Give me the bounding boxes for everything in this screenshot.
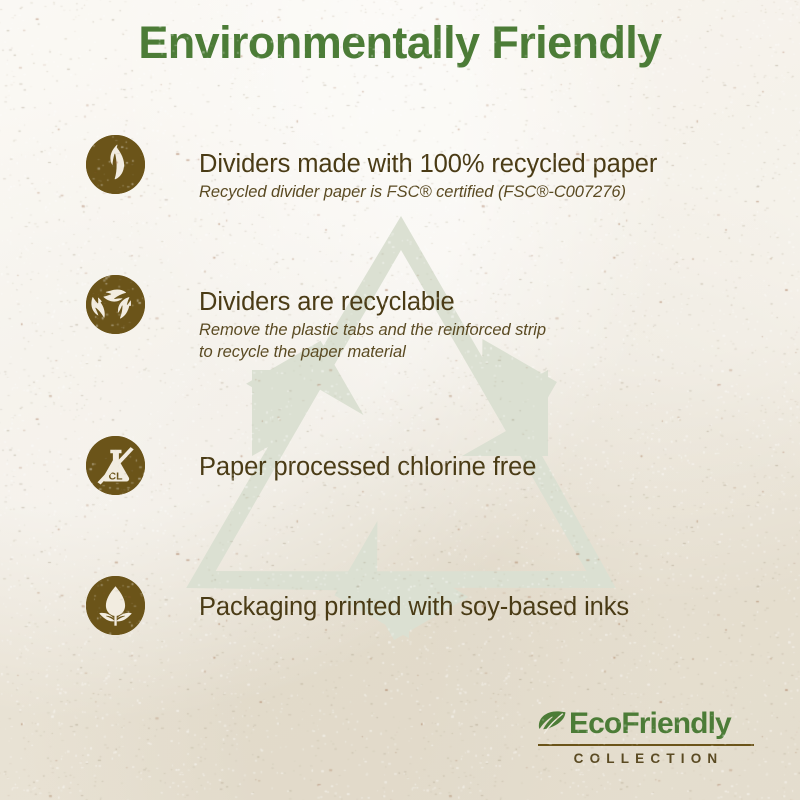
recycle-leaves-icon bbox=[86, 275, 145, 334]
feature-row-recyclable: Dividers are recyclable Remove the plast… bbox=[86, 275, 786, 364]
leaf-icon bbox=[538, 710, 566, 736]
paper-speckle-overlay bbox=[0, 0, 800, 800]
no-chlorine-flask-icon: CL bbox=[86, 436, 145, 495]
feature-text: Packaging printed with soy-based inks bbox=[199, 576, 786, 622]
logo-wordmark-row: EcoFriendly bbox=[538, 709, 754, 739]
feature-subtitle: Remove the plastic tabs and the reinforc… bbox=[199, 320, 786, 364]
logo-wordmark: EcoFriendly bbox=[569, 709, 731, 739]
logo-tagline: COLLECTION bbox=[538, 751, 754, 766]
leaf-icon bbox=[86, 135, 145, 194]
feature-subtitle-line: to recycle the paper material bbox=[199, 342, 786, 364]
feature-text: Paper processed chlorine free bbox=[199, 436, 786, 482]
ecofriendly-infographic: Environmentally Friendly Dividers made w… bbox=[0, 0, 800, 800]
feature-text: Dividers made with 100% recycled paper R… bbox=[199, 135, 786, 204]
feature-text: Dividers are recyclable Remove the plast… bbox=[199, 275, 786, 364]
soy-droplet-leaves-icon bbox=[86, 576, 145, 635]
feature-subtitle-line: Recycled divider paper is FSC® certified… bbox=[199, 182, 786, 204]
paper-texture-background bbox=[0, 0, 800, 800]
feature-title: Dividers made with 100% recycled paper bbox=[199, 149, 786, 179]
page-title: Environmentally Friendly bbox=[0, 18, 800, 68]
brand-logo: EcoFriendly COLLECTION bbox=[538, 709, 754, 766]
feature-title: Dividers are recyclable bbox=[199, 287, 786, 317]
feature-row-chlorine-free: CL Paper processed chlorine free bbox=[86, 436, 786, 482]
feature-row-recycled-paper: Dividers made with 100% recycled paper R… bbox=[86, 135, 786, 204]
logo-divider bbox=[538, 744, 754, 746]
feature-subtitle: Recycled divider paper is FSC® certified… bbox=[199, 182, 786, 204]
feature-title: Paper processed chlorine free bbox=[199, 452, 786, 482]
feature-row-soy-inks: Packaging printed with soy-based inks bbox=[86, 576, 786, 622]
feature-title: Packaging printed with soy-based inks bbox=[199, 592, 786, 622]
feature-subtitle-line: Remove the plastic tabs and the reinforc… bbox=[199, 320, 786, 342]
